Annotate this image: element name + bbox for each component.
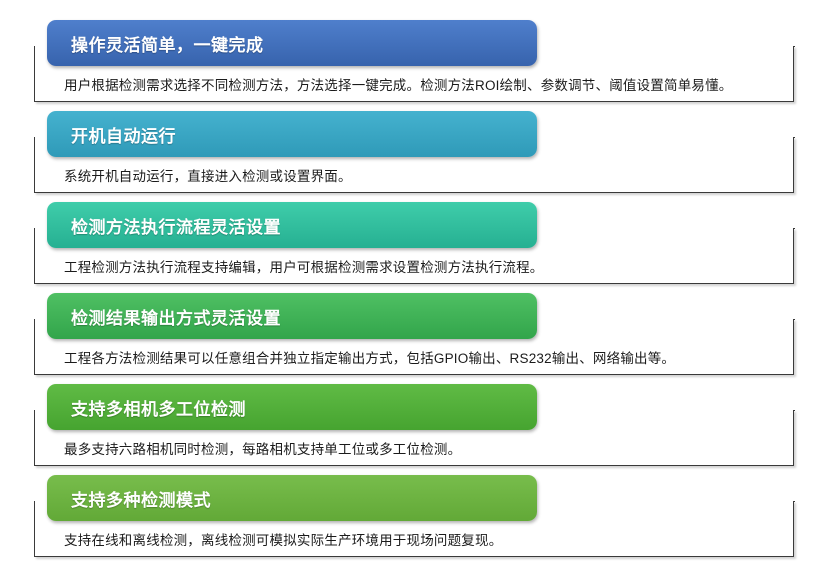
feature-list: 操作灵活简单，一键完成用户根据检测需求选择不同检测方法，方法选择一键完成。检测方… <box>0 0 836 588</box>
feature-description: 支持在线和离线检测，离线检测可模拟实际生产环境用于现场问题复现。 <box>64 529 804 549</box>
feature-title: 检测方法执行流程灵活设置 <box>47 213 281 238</box>
feature-description: 最多支持六路相机同时检测，每路相机支持单工位或多工位检测。 <box>64 438 804 458</box>
feature-title: 检测结果输出方式灵活设置 <box>47 304 281 329</box>
feature-title: 开机自动运行 <box>47 122 176 147</box>
feature-title: 支持多种检测模式 <box>47 486 211 511</box>
feature-title: 支持多相机多工位检测 <box>47 395 246 420</box>
feature-banner: 检测方法执行流程灵活设置 <box>47 202 537 248</box>
feature-banner: 支持多相机多工位检测 <box>47 384 537 430</box>
feature-description: 工程检测方法执行流程支持编辑，用户可根据检测需求设置检测方法执行流程。 <box>64 256 804 276</box>
feature-banner: 支持多种检测模式 <box>47 475 537 521</box>
feature-banner: 操作灵活简单，一键完成 <box>47 20 537 66</box>
feature-description: 用户根据检测需求选择不同检测方法，方法选择一键完成。检测方法ROI绘制、参数调节… <box>64 74 804 94</box>
feature-banner: 检测结果输出方式灵活设置 <box>47 293 537 339</box>
feature-banner: 开机自动运行 <box>47 111 537 157</box>
feature-title: 操作灵活简单，一键完成 <box>47 31 264 56</box>
feature-description: 工程各方法检测结果可以任意组合并独立指定输出方式，包括GPIO输出、RS232输… <box>64 347 804 367</box>
feature-description: 系统开机自动运行，直接进入检测或设置界面。 <box>64 165 804 185</box>
